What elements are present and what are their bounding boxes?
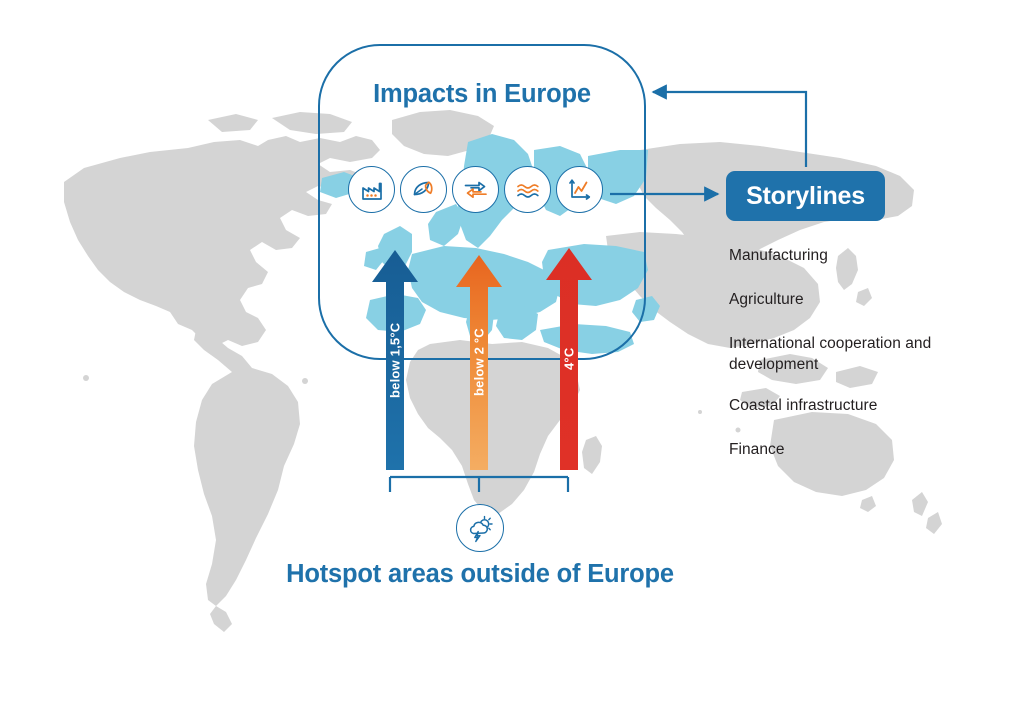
line-chart-icon[interactable] bbox=[556, 166, 603, 213]
list-item[interactable]: Manufacturing bbox=[729, 245, 959, 266]
arrow-storylines-to-panel bbox=[653, 92, 806, 167]
storylines-label: Storylines bbox=[746, 182, 865, 211]
page-title: Impacts in Europe bbox=[318, 80, 646, 109]
arrow-below-1-5-c: below 1,5°C bbox=[371, 250, 419, 470]
arrow-4-c: 4°C bbox=[545, 248, 593, 470]
factory-icon[interactable] bbox=[348, 166, 395, 213]
list-item[interactable]: Finance bbox=[729, 439, 959, 460]
storylines-list: Manufacturing Agriculture International … bbox=[729, 245, 959, 483]
impact-icon-row bbox=[348, 166, 603, 213]
list-item[interactable]: Coastal infrastructure bbox=[729, 395, 959, 416]
exchanging-hands-icon[interactable] bbox=[452, 166, 499, 213]
arrow-below-2-c: below 2 °C bbox=[455, 255, 503, 470]
list-item[interactable]: International cooperation and developmen… bbox=[729, 333, 959, 375]
storylines-button[interactable]: Storylines bbox=[726, 171, 885, 221]
infographic-canvas: Impacts in Europe bbox=[0, 0, 1024, 705]
list-item[interactable]: Agriculture bbox=[729, 289, 959, 310]
leaf-sprout-icon[interactable] bbox=[400, 166, 447, 213]
hotspot-caption: Hotspot areas outside of Europe bbox=[180, 560, 780, 589]
waves-icon[interactable] bbox=[504, 166, 551, 213]
hotspot-bracket bbox=[390, 477, 568, 492]
storm-cloud-sun-lightning-icon bbox=[456, 504, 504, 552]
